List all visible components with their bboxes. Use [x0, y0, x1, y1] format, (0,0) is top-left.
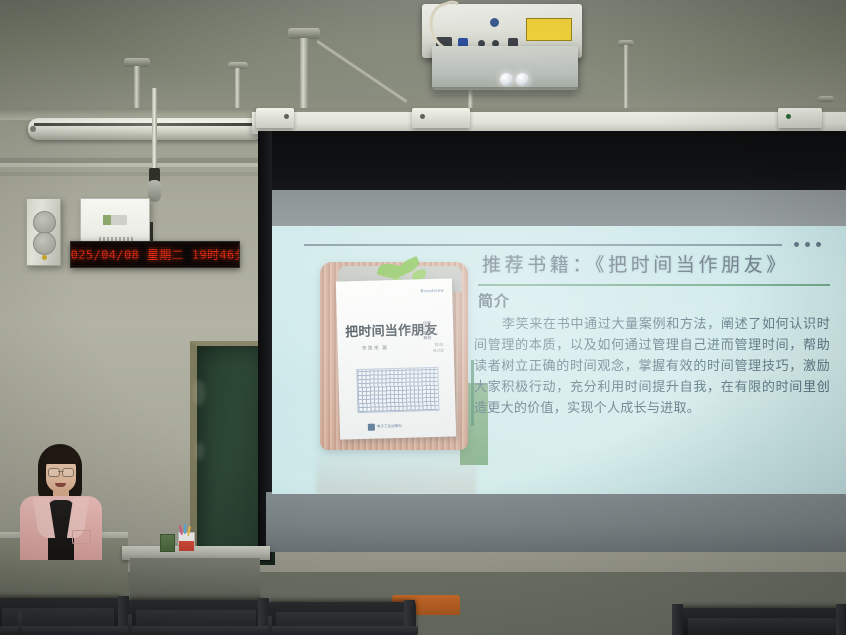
- projector-lower-housing: [432, 46, 578, 90]
- projection-screen-dark-band: [263, 131, 846, 195]
- wall-speaker: [26, 198, 61, 266]
- glasses-lens-right: [62, 468, 74, 477]
- projection-screen-gray-band: [270, 190, 846, 230]
- projector-warning-label: [526, 18, 572, 41]
- hanging-microphone-rod: [152, 88, 157, 174]
- projector-lamp-indicator: [516, 73, 529, 86]
- presentation-slide: Broadview 把时间当作朋友 运用心智获得解放 李笑来 著 第3版修订版 …: [272, 226, 846, 494]
- projector-lens: [500, 73, 513, 86]
- book-maze-illustration: [356, 367, 439, 413]
- desk-green-box[interactable]: [160, 534, 175, 552]
- seat-back-panel: [688, 618, 838, 635]
- bracket-screw-icon: [786, 114, 791, 119]
- book-author-text: 李笑来 著: [362, 344, 389, 352]
- seat-rail-support: [18, 612, 22, 635]
- decor-dot-icon: [805, 242, 810, 247]
- seat-divider-post: [672, 604, 683, 635]
- pen-icon: [184, 524, 186, 534]
- speaker-cone-lower: [33, 232, 56, 255]
- seat-rail-support: [128, 614, 132, 635]
- book-publisher-text: 电子工业出版社: [377, 424, 402, 429]
- desk-pens: [179, 524, 192, 534]
- ceiling-mount-pole-left: [134, 66, 140, 112]
- slide-title: 推荐书籍：《把时间当作朋友》: [482, 250, 830, 277]
- seat-divider-post: [836, 604, 846, 635]
- bracket-screw-icon: [420, 114, 425, 119]
- projection-screen-bottom-band: [266, 492, 846, 552]
- bracket-screw-icon: [284, 114, 289, 119]
- ceiling-mount-pole-center: [300, 38, 308, 116]
- screen-bracket-left: [256, 108, 294, 128]
- chalk-smudge: [195, 442, 204, 460]
- ceiling-mount-pole-mid: [235, 68, 240, 112]
- slide-body-text: 李笑来在书中通过大量案例和方法，阐述了如何认识时间管理的本质，以及如何通过管理自…: [474, 314, 830, 419]
- pen-icon: [179, 525, 183, 535]
- projector-shadow: [430, 87, 580, 95]
- chalk-smudge: [193, 380, 205, 406]
- led-clock-text: 2025/04/08 星期二 19时46分: [70, 246, 240, 263]
- seat-rail-support: [268, 616, 272, 635]
- light-end-cap: [30, 126, 36, 132]
- presenter-hair-front: [43, 448, 79, 464]
- seat-row-front-4: [680, 608, 846, 635]
- seat-rail: [0, 626, 418, 635]
- ceiling-mount-cap-edge: [818, 96, 834, 102]
- decor-dot-icon: [794, 242, 799, 247]
- screen-bracket-center: [412, 108, 470, 128]
- decor-dot-icon: [816, 242, 821, 247]
- ceiling-mount-pole-far-right: [624, 45, 628, 115]
- book-brand-label: Broadview: [420, 288, 444, 294]
- slide-section-heading: 简介: [478, 290, 510, 311]
- screen-bracket-right: [778, 108, 822, 128]
- glasses-icon: [48, 468, 74, 475]
- speaker-led-icon: [42, 255, 47, 260]
- speaker-cone-upper: [33, 211, 56, 234]
- book-subtitle-text: 运用心智获得解放: [423, 320, 432, 340]
- projector-power-button[interactable]: [490, 18, 499, 27]
- ceiling-projector: [418, 0, 590, 92]
- wall-trim-lower: [0, 172, 262, 176]
- book-publisher-block: 电子工业出版社: [368, 423, 402, 431]
- publisher-logo-icon: [368, 424, 375, 431]
- presenter-jacket-pocket: [72, 530, 91, 544]
- presenter: [10, 444, 110, 564]
- led-clock-display: 2025/04/08 星期二 19时46分: [70, 241, 240, 268]
- slide-top-rule: [304, 244, 782, 246]
- glasses-lens-left: [48, 468, 60, 477]
- ceiling-light-left: [28, 118, 264, 140]
- classroom-photo-scene: 2025/04/08 星期二 19时46分: [0, 0, 846, 635]
- book-cover-photo: Broadview 把时间当作朋友 运用心智获得解放 李笑来 著 第3版修订版 …: [316, 258, 476, 452]
- book-meta-text: 第3版修订版: [433, 342, 444, 354]
- book-front-cover: Broadview 把时间当作朋友 运用心智获得解放 李笑来 著 第3版修订版 …: [336, 278, 456, 439]
- slide-title-underline: [478, 284, 830, 286]
- book-photo-reflection: [316, 448, 476, 494]
- slide-decor-dots: [794, 242, 821, 247]
- control-panel-logo-icon: [103, 215, 127, 225]
- wall-trim-upper: [0, 158, 262, 163]
